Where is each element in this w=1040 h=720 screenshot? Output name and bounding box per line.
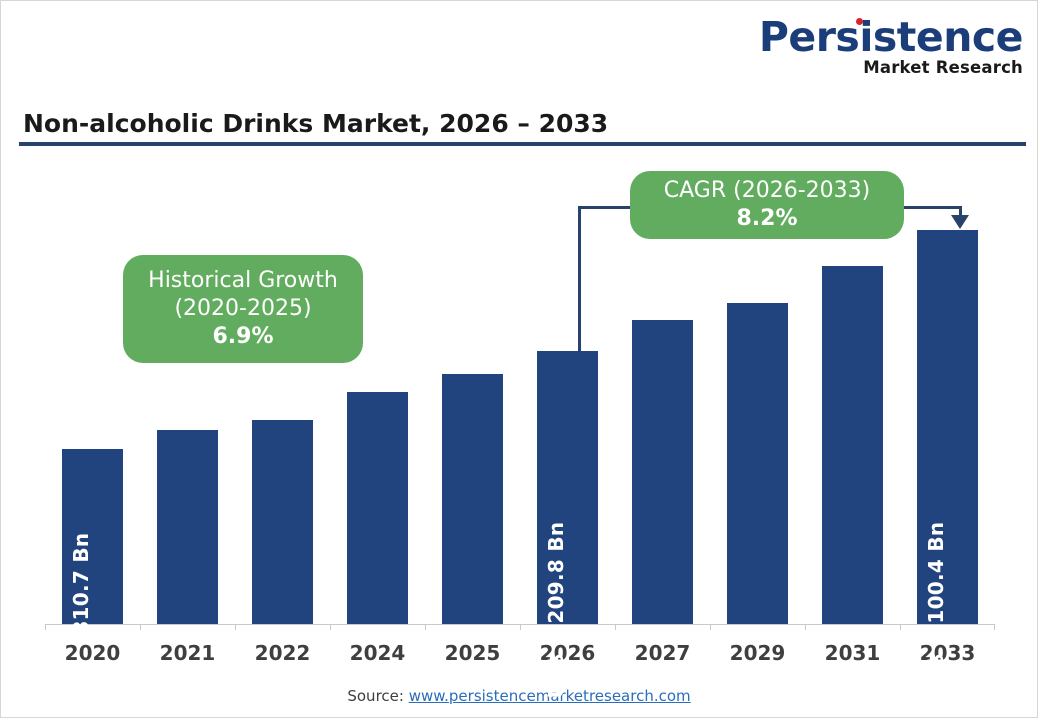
- cagr-badge: CAGR (2026-2033) 8.2%: [630, 171, 904, 239]
- historical-growth-value: 6.9%: [212, 323, 273, 352]
- x-label-2020: 2020: [45, 641, 140, 665]
- source-line: Source: www.persistencemarketresearch.co…: [1, 687, 1037, 705]
- bar-rect: [252, 420, 313, 624]
- bar-2025[interactable]: [425, 374, 520, 624]
- x-axis-tick: [710, 624, 711, 630]
- bar-2022[interactable]: [235, 420, 330, 624]
- x-axis-tick: [615, 624, 616, 630]
- x-label-2027: 2027: [615, 641, 710, 665]
- x-label-2031: 2031: [805, 641, 900, 665]
- x-label-2024: 2024: [330, 641, 425, 665]
- cagr-connector-vertical-start: [578, 206, 581, 352]
- x-axis-tick: [994, 624, 995, 630]
- bar-rect: US$ 2,100.4 Bn: [917, 230, 978, 624]
- historical-growth-line1: Historical Growth: [148, 267, 338, 295]
- x-axis-tick: [900, 624, 901, 630]
- page-title: Non-alcoholic Drinks Market, 2026 – 2033: [23, 109, 608, 138]
- historical-growth-badge: Historical Growth (2020-2025) 6.9%: [123, 255, 363, 363]
- source-prefix: Source:: [347, 687, 408, 705]
- x-label-2029: 2029: [710, 641, 805, 665]
- cagr-value: 8.2%: [736, 205, 797, 234]
- title-divider: [19, 142, 1026, 146]
- logo-brand-label: Persistence: [759, 13, 1023, 61]
- bar-2033[interactable]: US$ 2,100.4 Bn: [900, 230, 995, 624]
- logo-subtitle: Market Research: [759, 60, 1023, 77]
- bar-value-label: US$ 2,100.4 Bn: [924, 522, 948, 699]
- bar-2029[interactable]: [710, 303, 805, 624]
- bar-rect: [157, 430, 218, 624]
- company-logo: Persistence Market Research: [759, 17, 1023, 77]
- bar-2027[interactable]: [615, 320, 710, 624]
- x-axis-tick: [425, 624, 426, 630]
- x-label-2022: 2022: [235, 641, 330, 665]
- x-axis-tick: [805, 624, 806, 630]
- bar-2031[interactable]: [805, 266, 900, 624]
- x-axis-tick: [45, 624, 46, 630]
- historical-growth-line2: (2020-2025): [174, 295, 311, 323]
- x-axis-tick: [330, 624, 331, 630]
- x-label-2021: 2021: [140, 641, 235, 665]
- bar-rect: [822, 266, 883, 624]
- x-label-2025: 2025: [425, 641, 520, 665]
- logo-brand-text: Persistence: [759, 17, 1023, 58]
- cagr-connector-arrow-icon: [951, 215, 969, 229]
- bar-rect: [442, 374, 503, 624]
- logo-red-dot-icon: [856, 18, 863, 25]
- bar-rect: US$ 810.7 Bn: [62, 449, 123, 624]
- bar-value-label: US$ 1,209.8 Bn: [544, 522, 568, 699]
- bar-rect: US$ 1,209.8 Bn: [537, 351, 598, 624]
- bar-rect: [632, 320, 693, 624]
- x-axis-tick: [235, 624, 236, 630]
- bar-rect: [347, 392, 408, 624]
- bar-2026[interactable]: US$ 1,209.8 Bn: [520, 351, 615, 624]
- x-axis-tick: [140, 624, 141, 630]
- bar-2020[interactable]: US$ 810.7 Bn: [45, 449, 140, 624]
- bar-rect: [727, 303, 788, 624]
- bar-2021[interactable]: [140, 430, 235, 624]
- x-axis-tick: [520, 624, 521, 630]
- cagr-line1: CAGR (2026-2033): [664, 177, 870, 205]
- chart-canvas: Persistence Market Research Non-alcoholi…: [0, 0, 1038, 718]
- bar-2024[interactable]: [330, 392, 425, 624]
